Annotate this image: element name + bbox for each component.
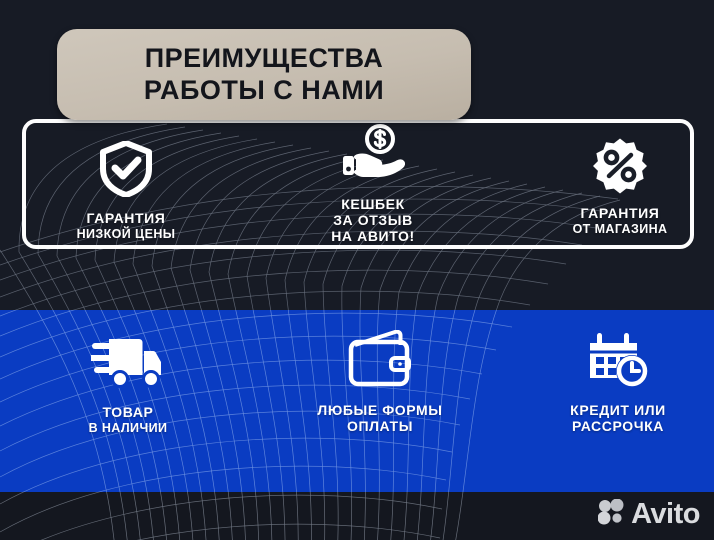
caption-secondary: ОТ МАГАЗИНА: [573, 222, 668, 236]
hand-holding-coin-icon: [341, 124, 405, 191]
avito-dots-icon: [598, 499, 626, 530]
headline-line-1: ПРЕИМУЩЕСТВА: [145, 43, 384, 75]
caption-primary: ЛЮБЫЕ ФОРМЫ: [317, 403, 442, 419]
caption-primary: КРЕДИТ ИЛИ: [570, 403, 666, 419]
promo-banner: ПРЕИМУЩЕСТВА РАБОТЫ С НАМИ ГАРАНТИЯ НИЗК…: [0, 0, 714, 540]
percent-badge-icon: [592, 138, 648, 199]
headline-line-2: РАБОТЫ С НАМИ: [144, 75, 384, 107]
feature-warranty-low-price: ГАРАНТИЯ НИЗКОЙ ЦЕНЫ: [26, 141, 226, 241]
feature-payment-forms: ЛЮБЫЕ ФОРМЫ ОПЛАТЫ: [285, 330, 475, 435]
feature-in-stock-captions: ТОВАР В НАЛИЧИИ: [89, 405, 168, 435]
avito-wordmark: Avito: [631, 500, 700, 529]
feature-warranty-captions: ГАРАНТИЯ НИЗКОЙ ЦЕНЫ: [77, 211, 176, 241]
headline-plate: ПРЕИМУЩЕСТВА РАБОТЫ С НАМИ: [57, 29, 471, 120]
feature-in-stock: ТОВАР В НАЛИЧИИ: [28, 333, 228, 435]
calendar-clock-icon: [586, 330, 650, 393]
caption-secondary: РАССРОЧКА: [570, 419, 666, 435]
feature-cashback-captions: КЕШБЕК ЗА ОТЗЫВ НА АВИТО!: [331, 197, 415, 245]
caption-secondary: ЗА ОТЗЫВ: [331, 213, 415, 229]
caption-primary: ТОВАР: [89, 405, 168, 421]
feature-payment-captions: ЛЮБЫЕ ФОРМЫ ОПЛАТЫ: [317, 403, 442, 435]
feature-cashback-for-review: КЕШБЕК ЗА ОТЗЫВ НА АВИТО!: [288, 124, 458, 245]
caption-primary: КЕШБЕК: [331, 197, 415, 213]
caption-tertiary: НА АВИТО!: [331, 229, 415, 245]
caption-secondary: НИЗКОЙ ЦЕНЫ: [77, 227, 176, 241]
shield-check-icon: [100, 141, 152, 202]
caption-primary: ГАРАНТИЯ: [77, 211, 176, 227]
feature-store-warranty-captions: ГАРАНТИЯ ОТ МАГАЗИНА: [573, 206, 668, 236]
caption-primary: ГАРАНТИЯ: [573, 206, 668, 222]
feature-store-warranty: ГАРАНТИЯ ОТ МАГАЗИНА: [530, 138, 710, 236]
caption-secondary: ОПЛАТЫ: [317, 419, 442, 435]
delivery-truck-icon: [91, 333, 165, 394]
caption-secondary: В НАЛИЧИИ: [89, 421, 168, 435]
feature-credit-installment: КРЕДИТ ИЛИ РАССРОЧКА: [518, 330, 714, 435]
avito-watermark: Avito: [598, 499, 700, 530]
wallet-icon: [347, 330, 413, 393]
feature-credit-captions: КРЕДИТ ИЛИ РАССРОЧКА: [570, 403, 666, 435]
